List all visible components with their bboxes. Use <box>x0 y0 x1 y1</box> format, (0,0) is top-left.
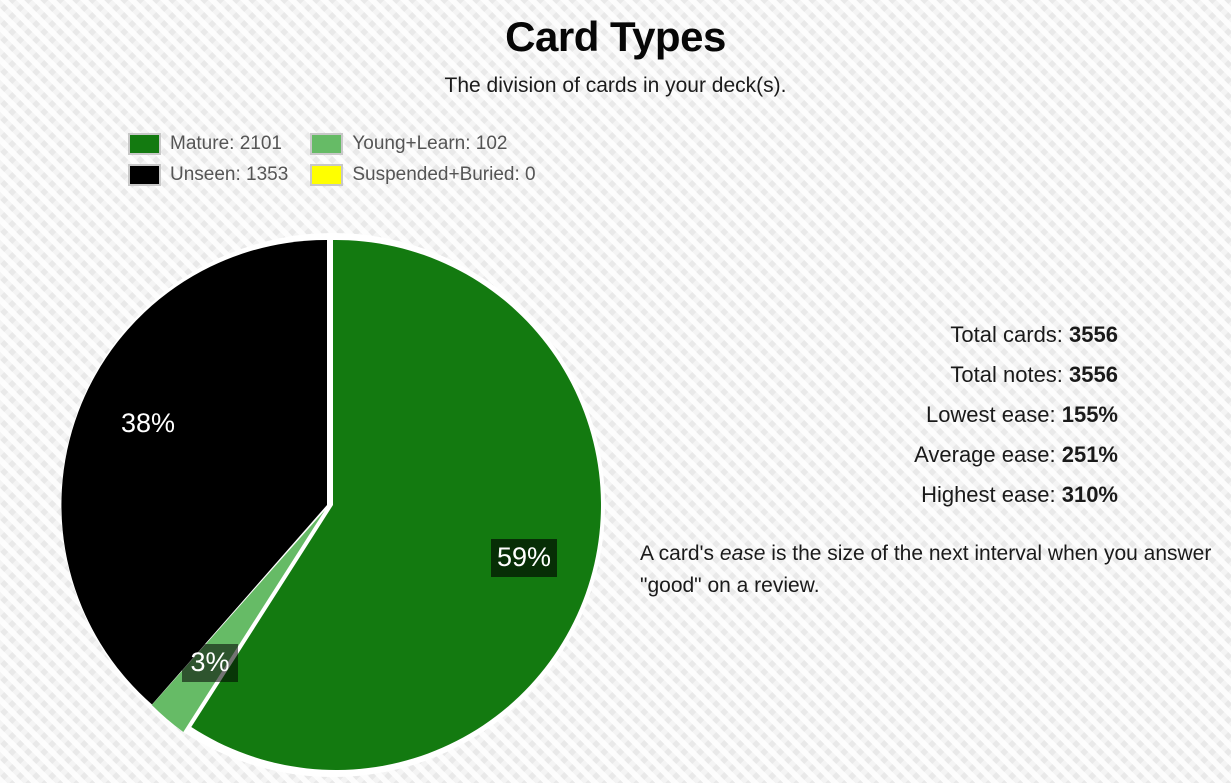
legend-label-mature: Mature: 2101 <box>170 133 282 155</box>
stat-label-average-ease: Average ease: <box>914 442 1055 467</box>
legend-item-young-learn[interactable]: Young+Learn: 102 <box>310 133 535 155</box>
legend-item-suspended-buried[interactable]: Suspended+Buried: 0 <box>310 164 535 186</box>
legend-swatch-icon-suspended-buried <box>310 164 343 186</box>
stat-label-total-cards: Total cards: <box>950 322 1063 347</box>
stat-row-average-ease: Average ease: 251% <box>700 435 1118 475</box>
legend-swatch-icon-mature <box>128 133 161 155</box>
page-subtitle: The division of cards in your deck(s). <box>0 74 1231 98</box>
chart-legend: Mature: 2101 Young+Learn: 102 Unseen: 13… <box>128 133 536 186</box>
legend-label-unseen: Unseen: 1353 <box>170 164 288 186</box>
deck-stats-table: Total cards: 3556 Total notes: 3556 Lowe… <box>700 315 1118 515</box>
stat-row-lowest-ease: Lowest ease: 155% <box>700 395 1118 435</box>
pie-slice-label-unseen-text: 38% <box>121 408 175 438</box>
pie-slice-label-unseen: 38% <box>113 405 183 443</box>
pie-slice-label-mature: 59% <box>491 539 557 577</box>
legend-label-suspended-buried: Suspended+Buried: 0 <box>352 164 535 186</box>
pie-slice-label-young-learn-text: 3% <box>190 647 229 677</box>
pie-slice-label-young-learn: 3% <box>182 644 238 682</box>
ease-note-part1: A card's <box>640 542 720 565</box>
stat-label-total-notes: Total notes: <box>950 362 1063 387</box>
card-types-pie-chart[interactable]: 59% 38% 3% <box>60 232 606 778</box>
legend-item-mature[interactable]: Mature: 2101 <box>128 133 288 155</box>
legend-label-young-learn: Young+Learn: 102 <box>352 133 507 155</box>
pie-slice-label-mature-text: 59% <box>497 542 551 572</box>
stat-row-total-cards: Total cards: 3556 <box>700 315 1118 355</box>
stat-value-average-ease: 251% <box>1062 442 1118 467</box>
stat-value-total-cards: 3556 <box>1069 322 1118 347</box>
legend-swatch-icon-young-learn <box>310 133 343 155</box>
ease-explanation-note: A card's ease is the size of the next in… <box>640 538 1218 602</box>
stat-value-highest-ease: 310% <box>1062 482 1118 507</box>
stat-value-total-notes: 3556 <box>1069 362 1118 387</box>
stat-value-lowest-ease: 155% <box>1062 402 1118 427</box>
legend-item-unseen[interactable]: Unseen: 1353 <box>128 164 288 186</box>
legend-swatch-icon-unseen <box>128 164 161 186</box>
stat-row-highest-ease: Highest ease: 310% <box>700 475 1118 515</box>
stat-label-highest-ease: Highest ease: <box>921 482 1056 507</box>
stat-label-lowest-ease: Lowest ease: <box>926 402 1056 427</box>
ease-note-emphasis: ease <box>720 542 766 565</box>
stat-row-total-notes: Total notes: 3556 <box>700 355 1118 395</box>
page-title: Card Types <box>0 14 1231 60</box>
